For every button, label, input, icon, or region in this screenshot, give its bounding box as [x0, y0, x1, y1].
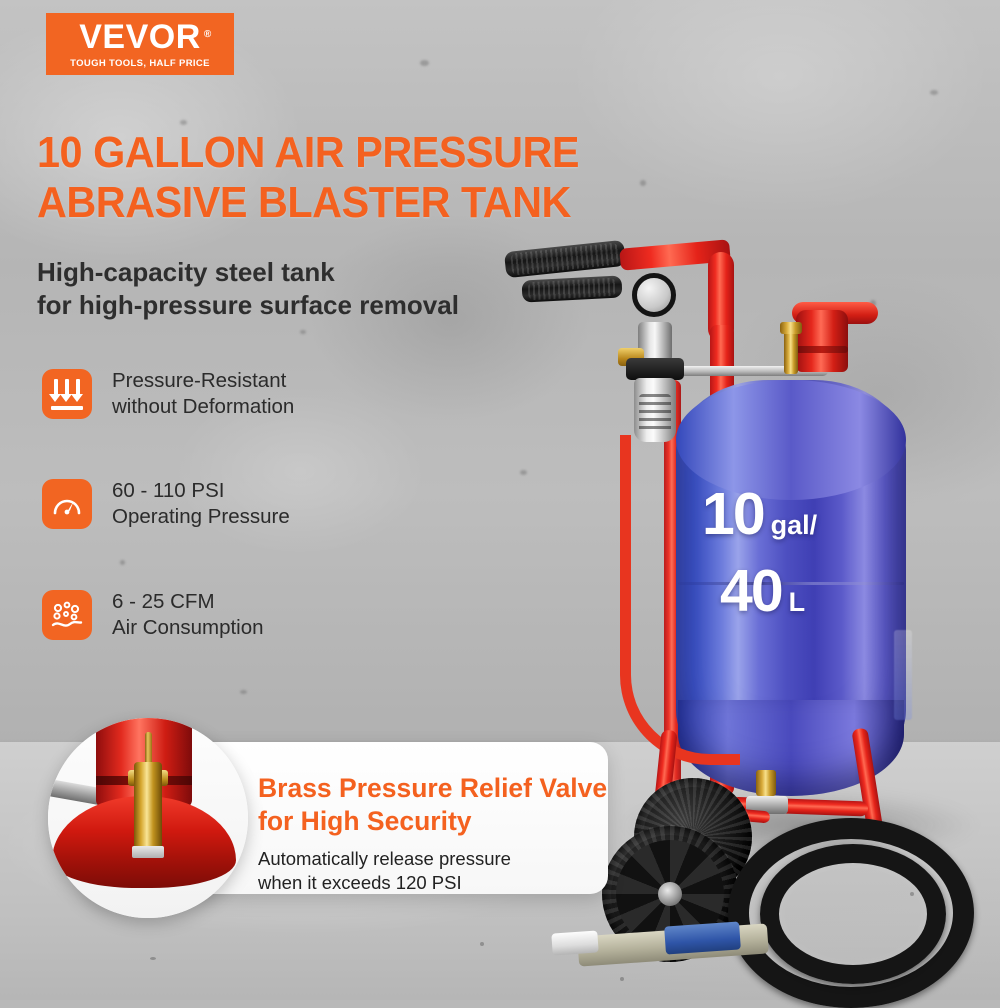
- callout-title-line-2: for High Security: [258, 805, 607, 838]
- callout-text-block: Brass Pressure Relief Valve for High Sec…: [258, 772, 607, 895]
- vevor-logo: VEVOR® TOUGH TOOLS, HALF PRICE: [46, 13, 234, 75]
- capacity-row-liters: 40 L: [720, 562, 817, 621]
- feature-text-air-consumption: 6 - 25 CFM Air Consumption: [112, 589, 264, 641]
- pressure-gauge: [632, 273, 676, 317]
- subheadline-line-2: for high-pressure surface removal: [37, 289, 459, 322]
- handle-grip-lower: [521, 275, 622, 302]
- coiled-blast-hose-inner: [760, 844, 946, 984]
- logo-tagline: TOUGH TOOLS, HALF PRICE: [70, 58, 210, 69]
- blasting-gun-nozzle: [551, 930, 598, 955]
- capacity-row-gallons: 10 gal/: [702, 485, 817, 544]
- feature-line-2: Operating Pressure: [112, 504, 290, 530]
- air-bubbles-icon: [42, 590, 92, 640]
- feature-line-1: 60 - 110 PSI: [112, 478, 290, 504]
- headline-line-2: ABRASIVE BLASTER TANK: [37, 178, 579, 228]
- callout-valve-closeup-image: [48, 718, 248, 918]
- capacity-liters-value: 40: [720, 562, 782, 621]
- tank-outlet-brass-fitting: [756, 770, 776, 796]
- feature-line-2: without Deformation: [112, 394, 294, 420]
- callout-title-line-1: Brass Pressure Relief Valve: [258, 772, 607, 805]
- feature-item-air-consumption: 6 - 25 CFM Air Consumption: [42, 589, 264, 641]
- capacity-liters-unit: L: [789, 589, 806, 616]
- wheel-hub: [658, 882, 682, 906]
- callout-subtitle: Automatically release pressure when it e…: [258, 847, 607, 895]
- gauge-icon: [42, 479, 92, 529]
- callout-sub-line-1: Automatically release pressure: [258, 847, 607, 871]
- water-separator-bowl: [634, 378, 676, 442]
- feature-line-1: 6 - 25 CFM: [112, 589, 264, 615]
- feature-item-pressure-resistant: Pressure-Resistant without Deformation: [42, 368, 294, 420]
- registered-trademark-icon: ®: [204, 18, 212, 52]
- subheadline-line-1: High-capacity steel tank: [37, 256, 459, 289]
- closeup-brass-relief-valve: [134, 762, 162, 858]
- page-subtitle: High-capacity steel tank for high-pressu…: [37, 256, 459, 322]
- callout-title: Brass Pressure Relief Valve for High Sec…: [258, 772, 607, 838]
- closeup-valve-base: [132, 846, 164, 858]
- feature-item-operating-pressure: 60 - 110 PSI Operating Pressure: [42, 478, 290, 530]
- capacity-gallons-value: 10: [702, 485, 764, 544]
- feature-text-operating-pressure: 60 - 110 PSI Operating Pressure: [112, 478, 290, 530]
- pressure-arrows-icon: [42, 369, 92, 419]
- callout-sub-line-2: when it exceeds 120 PSI: [258, 871, 607, 895]
- capacity-gallons-unit: gal/: [771, 512, 818, 539]
- brass-relief-valve-nut: [780, 322, 802, 334]
- feature-line-2: Air Consumption: [112, 615, 264, 641]
- feature-line-1: Pressure-Resistant: [112, 368, 294, 394]
- logo-wordmark: VEVOR®: [79, 20, 201, 54]
- page-title: 10 GALLON AIR PRESSURE ABRASIVE BLASTER …: [37, 128, 579, 228]
- product-image-blaster-tank: 10 gal/ 40 L: [560, 230, 1000, 1000]
- regulator-collar: [626, 358, 684, 380]
- headline-line-1: 10 GALLON AIR PRESSURE: [37, 128, 579, 178]
- tank-capacity-label: 10 gal/ 40 L: [702, 485, 817, 621]
- tank-spec-sticker: [894, 630, 912, 720]
- blasting-gun-grip: [664, 921, 741, 954]
- tank-fill-cap: [796, 310, 848, 372]
- logo-wordmark-text: VEVOR: [79, 18, 201, 56]
- tank-cap-band: [796, 346, 848, 353]
- feature-text-pressure-resistant: Pressure-Resistant without Deformation: [112, 368, 294, 420]
